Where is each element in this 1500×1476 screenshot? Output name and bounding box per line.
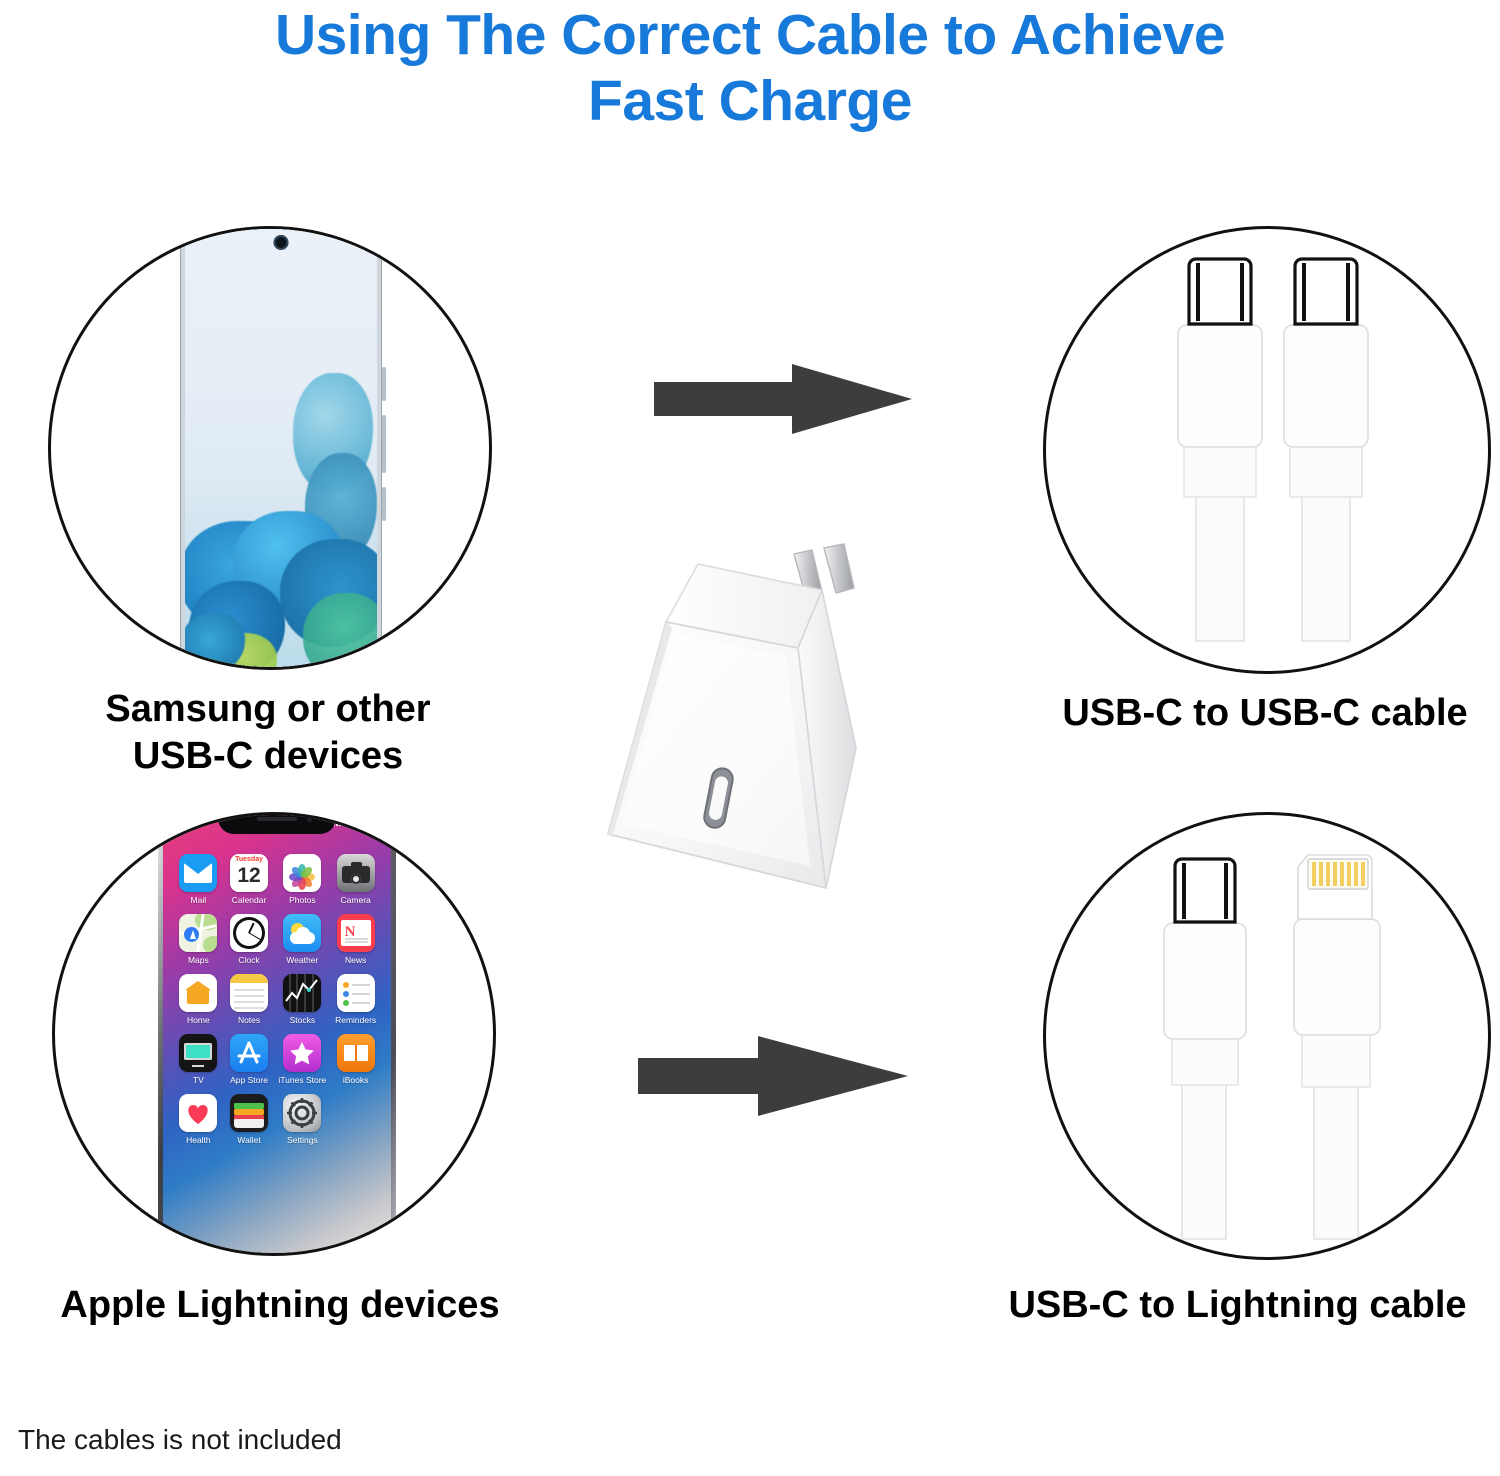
app-icon-calendar[interactable]: Tuesday 12 Calendar — [228, 854, 271, 905]
weather-app-icon — [283, 914, 321, 952]
samsung-device-circle — [48, 226, 492, 670]
app-icon-settings[interactable]: Settings — [278, 1094, 326, 1145]
usb-c-to-lightning-cable-icon — [1046, 815, 1491, 1260]
app-label: Camera — [341, 895, 371, 905]
maps-app-icon — [179, 914, 217, 952]
home-app-icon — [179, 974, 217, 1012]
usbc-to-usbc-cable-circle — [1043, 226, 1491, 674]
status-indicators — [329, 816, 377, 827]
apple-device-circle: 9:41 Mail — [52, 812, 496, 1256]
status-time: 9:41 — [181, 815, 203, 827]
health-app-icon — [179, 1094, 217, 1132]
samsung-power-button[interactable] — [382, 487, 386, 521]
iphone-x-icon: 9:41 Mail — [158, 812, 396, 1256]
footnote: The cables is not included — [18, 1424, 342, 1456]
usb-c-to-usb-c-cable-icon — [1046, 229, 1491, 674]
calendar-app-icon: Tuesday 12 — [230, 854, 268, 892]
app-icon-wallet[interactable]: Wallet — [228, 1094, 271, 1145]
app-label: Clock — [238, 955, 259, 965]
reminders-app-icon — [337, 974, 375, 1012]
app-icon-notes[interactable]: Notes — [228, 974, 271, 1025]
app-icon-stocks[interactable]: Stocks — [278, 974, 326, 1025]
app-label: Notes — [238, 1015, 260, 1025]
usb-c-power-adapter-icon — [548, 536, 878, 956]
app-label: Mail — [191, 895, 207, 905]
arrow-right-icon — [636, 1030, 910, 1122]
ibooks-app-icon — [337, 1034, 375, 1072]
mail-app-icon — [179, 854, 217, 892]
usbc-to-usbc-caption: USB-C to USB-C cable — [1030, 690, 1500, 737]
samsung-volume-button[interactable] — [382, 415, 386, 473]
app-label: Home — [187, 1015, 210, 1025]
app-label: Weather — [286, 955, 318, 965]
page-title-line-2: Fast Charge — [0, 68, 1500, 134]
app-icon-photos[interactable]: Photos — [278, 854, 326, 905]
wallpaper-blob — [185, 613, 245, 670]
notes-app-icon — [230, 974, 268, 1012]
app-icon-reminders[interactable]: Reminders — [334, 974, 377, 1025]
samsung-front-camera-icon — [274, 235, 289, 250]
app-label: Settings — [287, 1135, 318, 1145]
samsung-phone-icon — [181, 226, 381, 670]
wifi-icon — [344, 817, 355, 826]
app-icon-news[interactable]: N News — [334, 914, 377, 965]
usbc-to-lightning-caption: USB-C to Lightning cable — [975, 1282, 1500, 1329]
app-icon-health[interactable]: Health — [177, 1094, 220, 1145]
iphone-notch — [218, 812, 336, 834]
app-icon-maps[interactable]: Maps — [177, 914, 220, 965]
iphone-screen: 9:41 Mail — [163, 812, 391, 1256]
app-icon-mail[interactable]: Mail — [177, 854, 220, 905]
earpiece-speaker-icon — [257, 817, 297, 821]
stocks-app-icon — [283, 974, 321, 1012]
app-icon-app-store[interactable]: App Store — [228, 1034, 271, 1085]
app-icon-clock[interactable]: Clock — [228, 914, 271, 965]
app-label: iTunes Store — [278, 1075, 326, 1085]
app-icon-itunes-store[interactable]: iTunes Store — [278, 1034, 326, 1085]
samsung-side-button[interactable] — [382, 367, 386, 401]
app-store-app-icon — [230, 1034, 268, 1072]
app-label: Reminders — [335, 1015, 376, 1025]
app-label: Wallet — [237, 1135, 260, 1145]
calendar-day: Tuesday — [230, 856, 268, 863]
app-icon-weather[interactable]: Weather — [278, 914, 326, 965]
app-icon-tv[interactable]: TV — [177, 1034, 220, 1085]
page-title-line-1: Using The Correct Cable to Achieve — [0, 2, 1500, 68]
samsung-screen — [185, 226, 377, 670]
app-label: Health — [186, 1135, 211, 1145]
app-icon-ibooks[interactable]: iBooks — [334, 1034, 377, 1085]
tv-app-icon — [179, 1034, 217, 1072]
app-label: Stocks — [290, 1015, 316, 1025]
calendar-date: 12 — [230, 864, 268, 888]
samsung-device-caption: Samsung or other USB-C devices — [28, 686, 508, 780]
app-label: TV — [193, 1075, 204, 1085]
iphone-app-grid: Mail Tuesday 12 Calendar — [177, 854, 377, 1145]
apple-device-caption: Apple Lightning devices — [10, 1282, 550, 1329]
app-label: iBooks — [343, 1075, 369, 1085]
app-label: Calendar — [232, 895, 267, 905]
app-icon-home[interactable]: Home — [177, 974, 220, 1025]
photos-app-icon — [283, 854, 321, 892]
news-app-icon: N — [337, 914, 375, 952]
front-camera-icon — [307, 817, 312, 822]
arrow-right-icon — [652, 362, 914, 436]
page-title: Using The Correct Cable to Achieve Fast … — [0, 2, 1500, 134]
app-label: News — [345, 955, 366, 965]
wallpaper-blob — [303, 593, 377, 670]
camera-app-icon — [337, 854, 375, 892]
app-label: Maps — [188, 955, 209, 965]
clock-app-icon — [230, 914, 268, 952]
settings-app-icon — [283, 1094, 321, 1132]
app-label: Photos — [289, 895, 315, 905]
app-icon-camera[interactable]: Camera — [334, 854, 377, 905]
usbc-to-lightning-cable-circle — [1043, 812, 1491, 1260]
itunes-store-app-icon — [283, 1034, 321, 1072]
wallet-app-icon — [230, 1094, 268, 1132]
battery-icon — [358, 816, 377, 827]
app-label: App Store — [230, 1075, 268, 1085]
